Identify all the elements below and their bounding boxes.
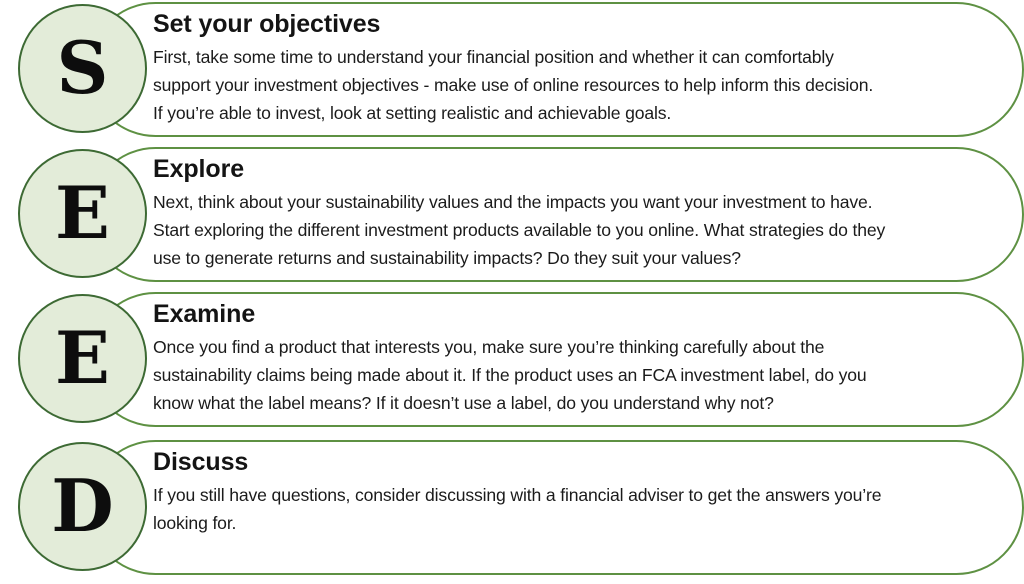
step-letter-badge-e1: E xyxy=(18,149,147,278)
badge-letter: E xyxy=(55,177,110,249)
body-line: If you’re able to invest, look at settin… xyxy=(153,99,998,127)
step-body: First, take some time to understand your… xyxy=(153,43,998,128)
step-content: Explore Next, think about your sustainab… xyxy=(153,153,998,273)
step-letter-badge-e2: E xyxy=(18,294,147,423)
badge-letter: E xyxy=(55,322,110,394)
body-line: Once you find a product that interests y… xyxy=(153,333,998,361)
badge-letter: S xyxy=(57,32,109,104)
body-line: sustainability claims being made about i… xyxy=(153,361,998,389)
body-line: Start exploring the different investment… xyxy=(153,216,998,244)
seed-framework-infographic: S Set your objectives First, take some t… xyxy=(0,0,1024,584)
step-body: Next, think about your sustainability va… xyxy=(153,188,998,273)
step-row-set-your-objectives: S Set your objectives First, take some t… xyxy=(0,2,1024,137)
step-body: If you still have questions, consider di… xyxy=(153,481,998,537)
body-line: use to generate returns and sustainabili… xyxy=(153,244,998,272)
body-line: know what the label means? If it doesn’t… xyxy=(153,389,998,417)
step-body: Once you find a product that interests y… xyxy=(153,333,998,418)
step-title: Examine xyxy=(153,298,998,331)
step-content: Set your objectives First, take some tim… xyxy=(153,8,998,128)
step-content: Discuss If you still have questions, con… xyxy=(153,446,998,537)
step-title: Set your objectives xyxy=(153,8,998,41)
body-line: First, take some time to understand your… xyxy=(153,43,998,71)
step-content: Examine Once you find a product that int… xyxy=(153,298,998,418)
step-row-explore: E Explore Next, think about your sustain… xyxy=(0,147,1024,282)
body-line: Next, think about your sustainability va… xyxy=(153,188,998,216)
body-line: support your investment objectives - mak… xyxy=(153,71,998,99)
badge-letter: D xyxy=(51,470,113,542)
body-line: looking for. xyxy=(153,509,998,537)
step-title: Explore xyxy=(153,153,998,186)
step-letter-badge-d: D xyxy=(18,442,147,571)
step-letter-badge-s: S xyxy=(18,4,147,133)
step-row-examine: E Examine Once you find a product that i… xyxy=(0,292,1024,427)
body-line: If you still have questions, consider di… xyxy=(153,481,998,509)
step-title: Discuss xyxy=(153,446,998,479)
step-row-discuss: D Discuss If you still have questions, c… xyxy=(0,440,1024,575)
